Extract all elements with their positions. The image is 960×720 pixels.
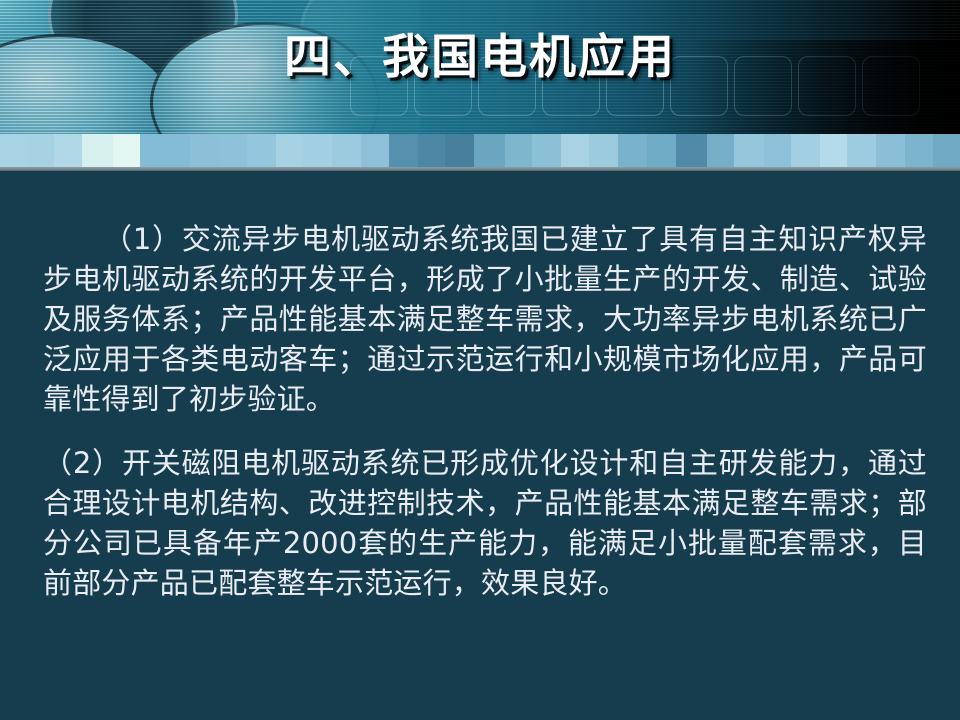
stripe-segment bbox=[140, 134, 191, 167]
stripe-segment bbox=[190, 134, 219, 167]
stripe-segment bbox=[847, 134, 876, 167]
decorative-stripe-band bbox=[0, 134, 960, 167]
body-paragraph-1: （1）交流异步电机驱动系统我国已建立了具有自主知识产权异步电机驱动系统的开发平台… bbox=[43, 219, 927, 419]
stripe-segment bbox=[303, 134, 332, 167]
stripe-segment bbox=[361, 134, 388, 167]
slide-title: 四、我国电机应用 bbox=[0, 29, 960, 87]
slide-body: （1）交流异步电机驱动系统我国已建立了具有自主知识产权异步电机驱动系统的开发平台… bbox=[0, 171, 960, 720]
stripe-segment bbox=[764, 134, 791, 167]
stripe-segment bbox=[505, 134, 532, 167]
stripe-segment bbox=[561, 134, 588, 167]
slide-header-banner: 四、我国电机应用 bbox=[0, 0, 960, 134]
presentation-slide: 四、我国电机应用 （1）交流异步电机驱动系统我国已建立了具有自主知识产权异步电机… bbox=[0, 0, 960, 720]
stripe-segment bbox=[734, 134, 763, 167]
stripe-segment bbox=[647, 134, 676, 167]
stripe-segment bbox=[276, 134, 303, 167]
stripe-segment bbox=[618, 134, 647, 167]
stripe-segment bbox=[474, 134, 505, 167]
stripe-segment bbox=[445, 134, 474, 167]
stripe-segment bbox=[247, 134, 276, 167]
stripe-segment bbox=[532, 134, 561, 167]
stripe-segment bbox=[933, 134, 960, 167]
stripe-segment bbox=[791, 134, 820, 167]
stripe-segment bbox=[876, 134, 905, 167]
stripe-segment bbox=[332, 134, 361, 167]
stripe-segment bbox=[220, 134, 247, 167]
stripe-segment bbox=[707, 134, 734, 167]
stripe-segment bbox=[676, 134, 707, 167]
stripe-segment bbox=[389, 134, 418, 167]
stripe-segment bbox=[820, 134, 847, 167]
stripe-segment bbox=[905, 134, 932, 167]
stripe-segment bbox=[418, 134, 445, 167]
stripe-segment bbox=[113, 134, 140, 167]
stripe-segment bbox=[0, 134, 27, 167]
stripe-segment bbox=[589, 134, 618, 167]
stripe-segment bbox=[82, 134, 113, 167]
stripe-segment bbox=[54, 134, 81, 167]
stripe-segment bbox=[27, 134, 54, 167]
body-paragraph-2: （2）开关磁阻电机驱动系统已形成优化设计和自主研发能力，通过合理设计电机结构、改… bbox=[43, 443, 927, 603]
